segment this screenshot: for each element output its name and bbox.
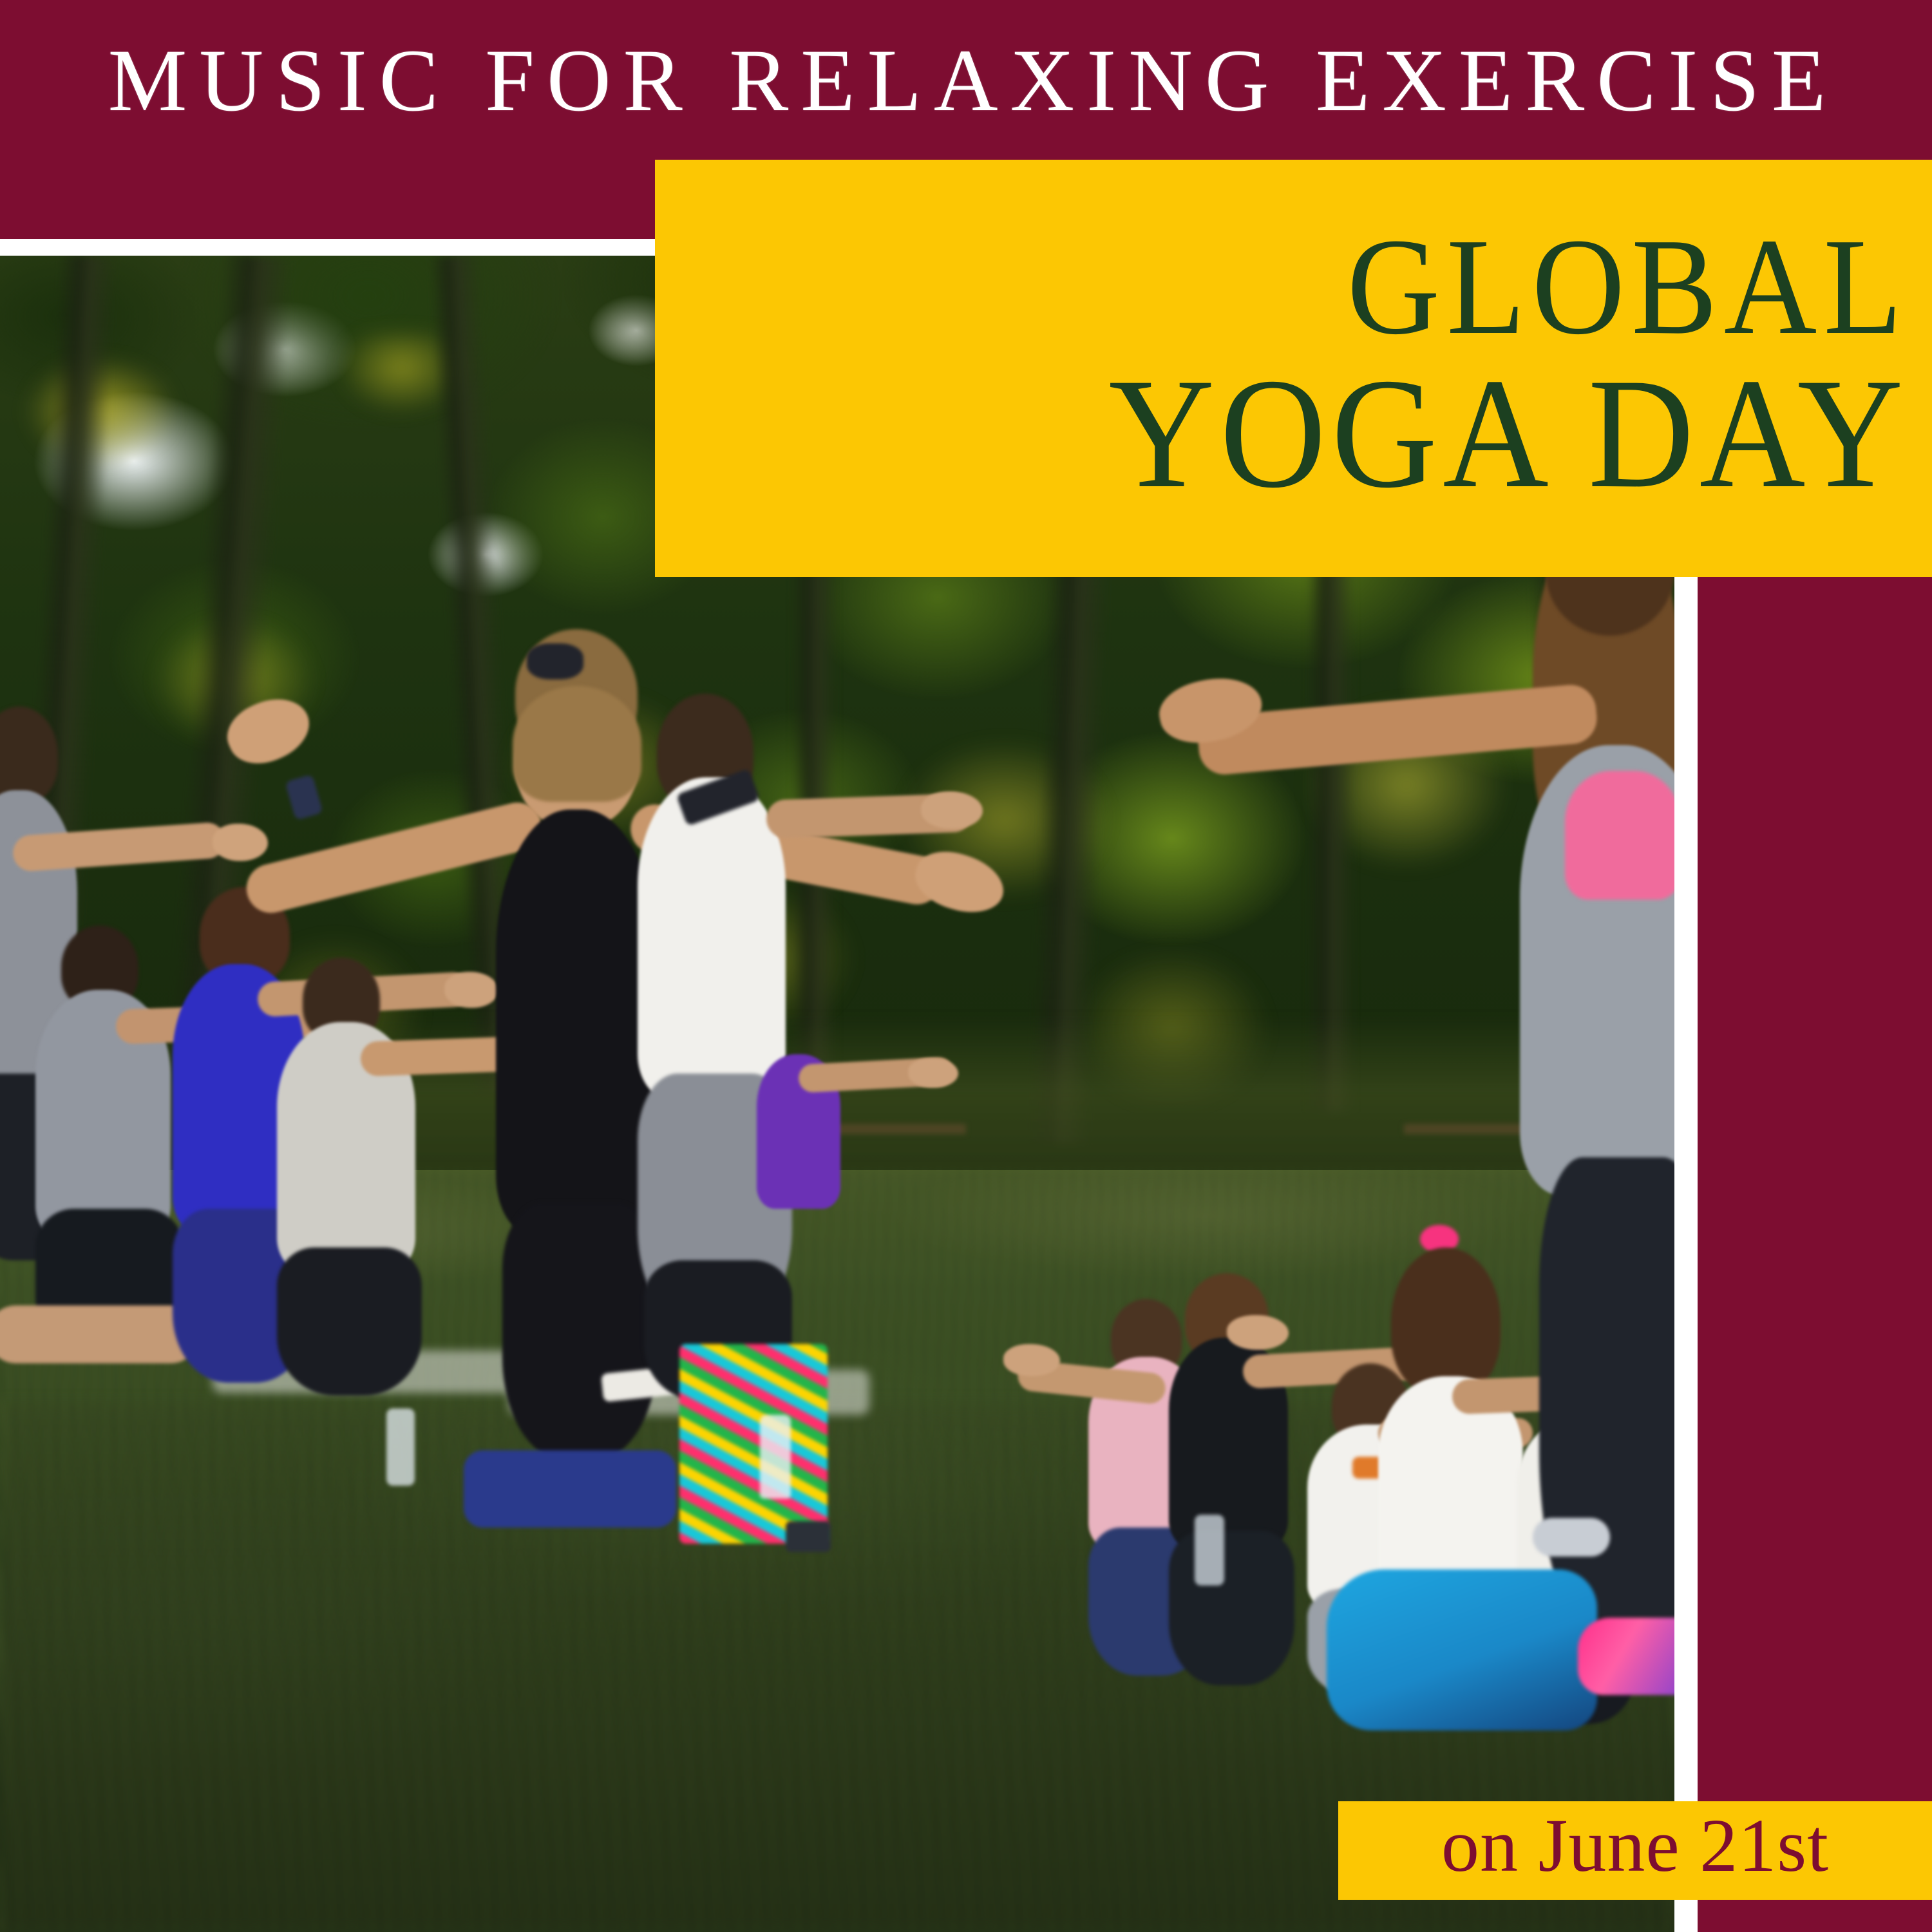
pink-sneakers bbox=[1578, 1618, 1674, 1695]
blue-towel bbox=[464, 1450, 676, 1528]
poster-canvas: MUSIC FOR RELAXING EXERCISE GLOBAL YOGA … bbox=[0, 0, 1932, 1932]
phone bbox=[786, 1521, 831, 1552]
water-bottle bbox=[386, 1408, 415, 1486]
title-line-1: GLOBAL bbox=[1347, 218, 1909, 355]
torso bbox=[496, 810, 657, 1235]
date-label: on June 21st bbox=[1441, 1808, 1829, 1884]
right-maroon-panel bbox=[1698, 577, 1932, 1932]
colorful-towel bbox=[679, 1344, 828, 1544]
title-line-2: YOGA DAY bbox=[1109, 355, 1909, 512]
water-bottle bbox=[760, 1415, 791, 1499]
title-yellow-block: GLOBAL YOGA DAY bbox=[655, 160, 1932, 577]
blue-jacket bbox=[1327, 1569, 1597, 1730]
header-tagline: MUSIC FOR RELAXING EXERCISE bbox=[0, 0, 1932, 160]
hair-tie bbox=[527, 643, 583, 679]
horizontal-white-gutter bbox=[0, 239, 655, 256]
vertical-white-gutter bbox=[1674, 577, 1698, 1932]
legs bbox=[502, 1202, 657, 1460]
sneaker bbox=[1533, 1518, 1610, 1557]
pink-sports-bra bbox=[1565, 771, 1674, 900]
date-yellow-block: on June 21st bbox=[1338, 1801, 1932, 1900]
water-bottle bbox=[1195, 1515, 1224, 1586]
